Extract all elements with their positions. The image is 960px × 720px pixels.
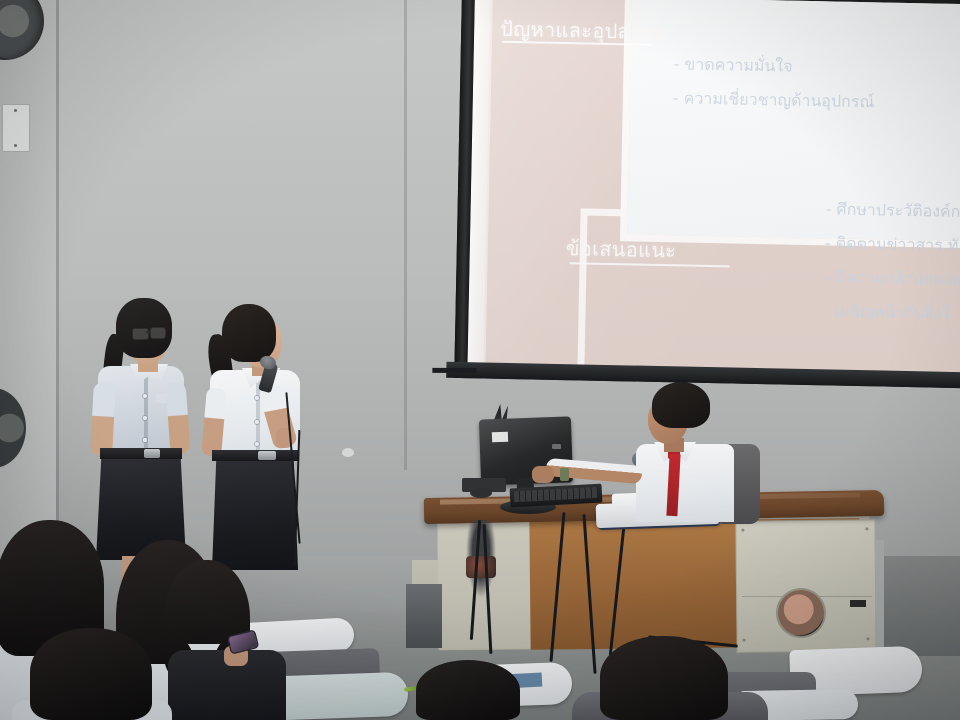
mouse[interactable] (470, 488, 492, 498)
audience-member-hair (416, 660, 520, 720)
wall-column-left (0, 0, 56, 560)
screen-bracket (432, 368, 476, 373)
classroom-presentation-photo: ปัญหาและอุปสรรค ข้อเสนอแนะ - ขาดความมั่น… (0, 0, 960, 720)
presenter-1-belt-buckle (144, 449, 160, 458)
projection-screen: ปัญหาและอุปสรรค ข้อเสนอแนะ - ขาดความมั่น… (454, 0, 960, 400)
slide-bullet-bottom-1: - ศึกษาประวัติองค์ก (825, 197, 960, 225)
slide-title-suggestions: ข้อเสนอแนะ (566, 232, 677, 266)
slide-bullet-bottom-2: - ติดตามข่าวสาร ทั (825, 231, 959, 259)
presenter-standing-right (204, 300, 318, 576)
presenter-1-arm-left (90, 381, 116, 456)
desk-drawer-handle[interactable] (850, 600, 866, 607)
presenter-2-belt (212, 450, 298, 461)
screen-surface: ปัญหาและอุปสรรค ข้อเสนอแนะ - ขาดความมั่น… (467, 0, 960, 376)
presenter-2-skirt (212, 458, 298, 570)
monitor-asset-label (492, 432, 508, 443)
presenter-1-arm-right (166, 381, 191, 454)
slide-title-problems: ปัญหาและอุปสรรค (500, 13, 666, 48)
lecture-chair-tablet-arm[interactable] (275, 672, 408, 720)
audience-member-hair (600, 636, 728, 720)
wall-recess-right (884, 556, 960, 656)
slide-bullet-top-1: - ขาดความมั่นใจ (673, 52, 793, 79)
wall-mark (342, 448, 354, 457)
seated-presenter-hand (532, 466, 554, 483)
eyeglasses-right-lens (150, 327, 166, 339)
presenter-seated (630, 382, 746, 532)
wall-outlet-plate (2, 104, 30, 152)
slide-bullet-bottom-4: - เผชิญหน้ากับสิ่งใ (823, 299, 949, 327)
under-desk-equipment-rack (406, 584, 442, 648)
eyeglasses-icon (132, 328, 149, 340)
seated-presenter-hair (652, 382, 710, 428)
presenter-standing-left (82, 298, 192, 576)
presenter-2-hair (222, 304, 276, 362)
wristband (560, 468, 569, 481)
wall-seam-left (56, 0, 59, 560)
eyeglasses-bridge (146, 331, 151, 333)
presenter-2-belt-buckle (258, 451, 276, 460)
audience-member-hair (30, 628, 152, 720)
slide-bullet-top-2: - ความเชี่ยวชาญด้านอุปกรณ์ (673, 86, 875, 115)
wall-seam-center (404, 0, 407, 470)
power-strip (466, 556, 496, 578)
monitor-logo-icon (552, 444, 561, 449)
cabinet-speaker-grille-icon (778, 590, 824, 636)
presenter-1-belt (100, 448, 182, 459)
slide-bullet-bottom-3: - มีความกล้าแสดงอ (824, 265, 960, 293)
